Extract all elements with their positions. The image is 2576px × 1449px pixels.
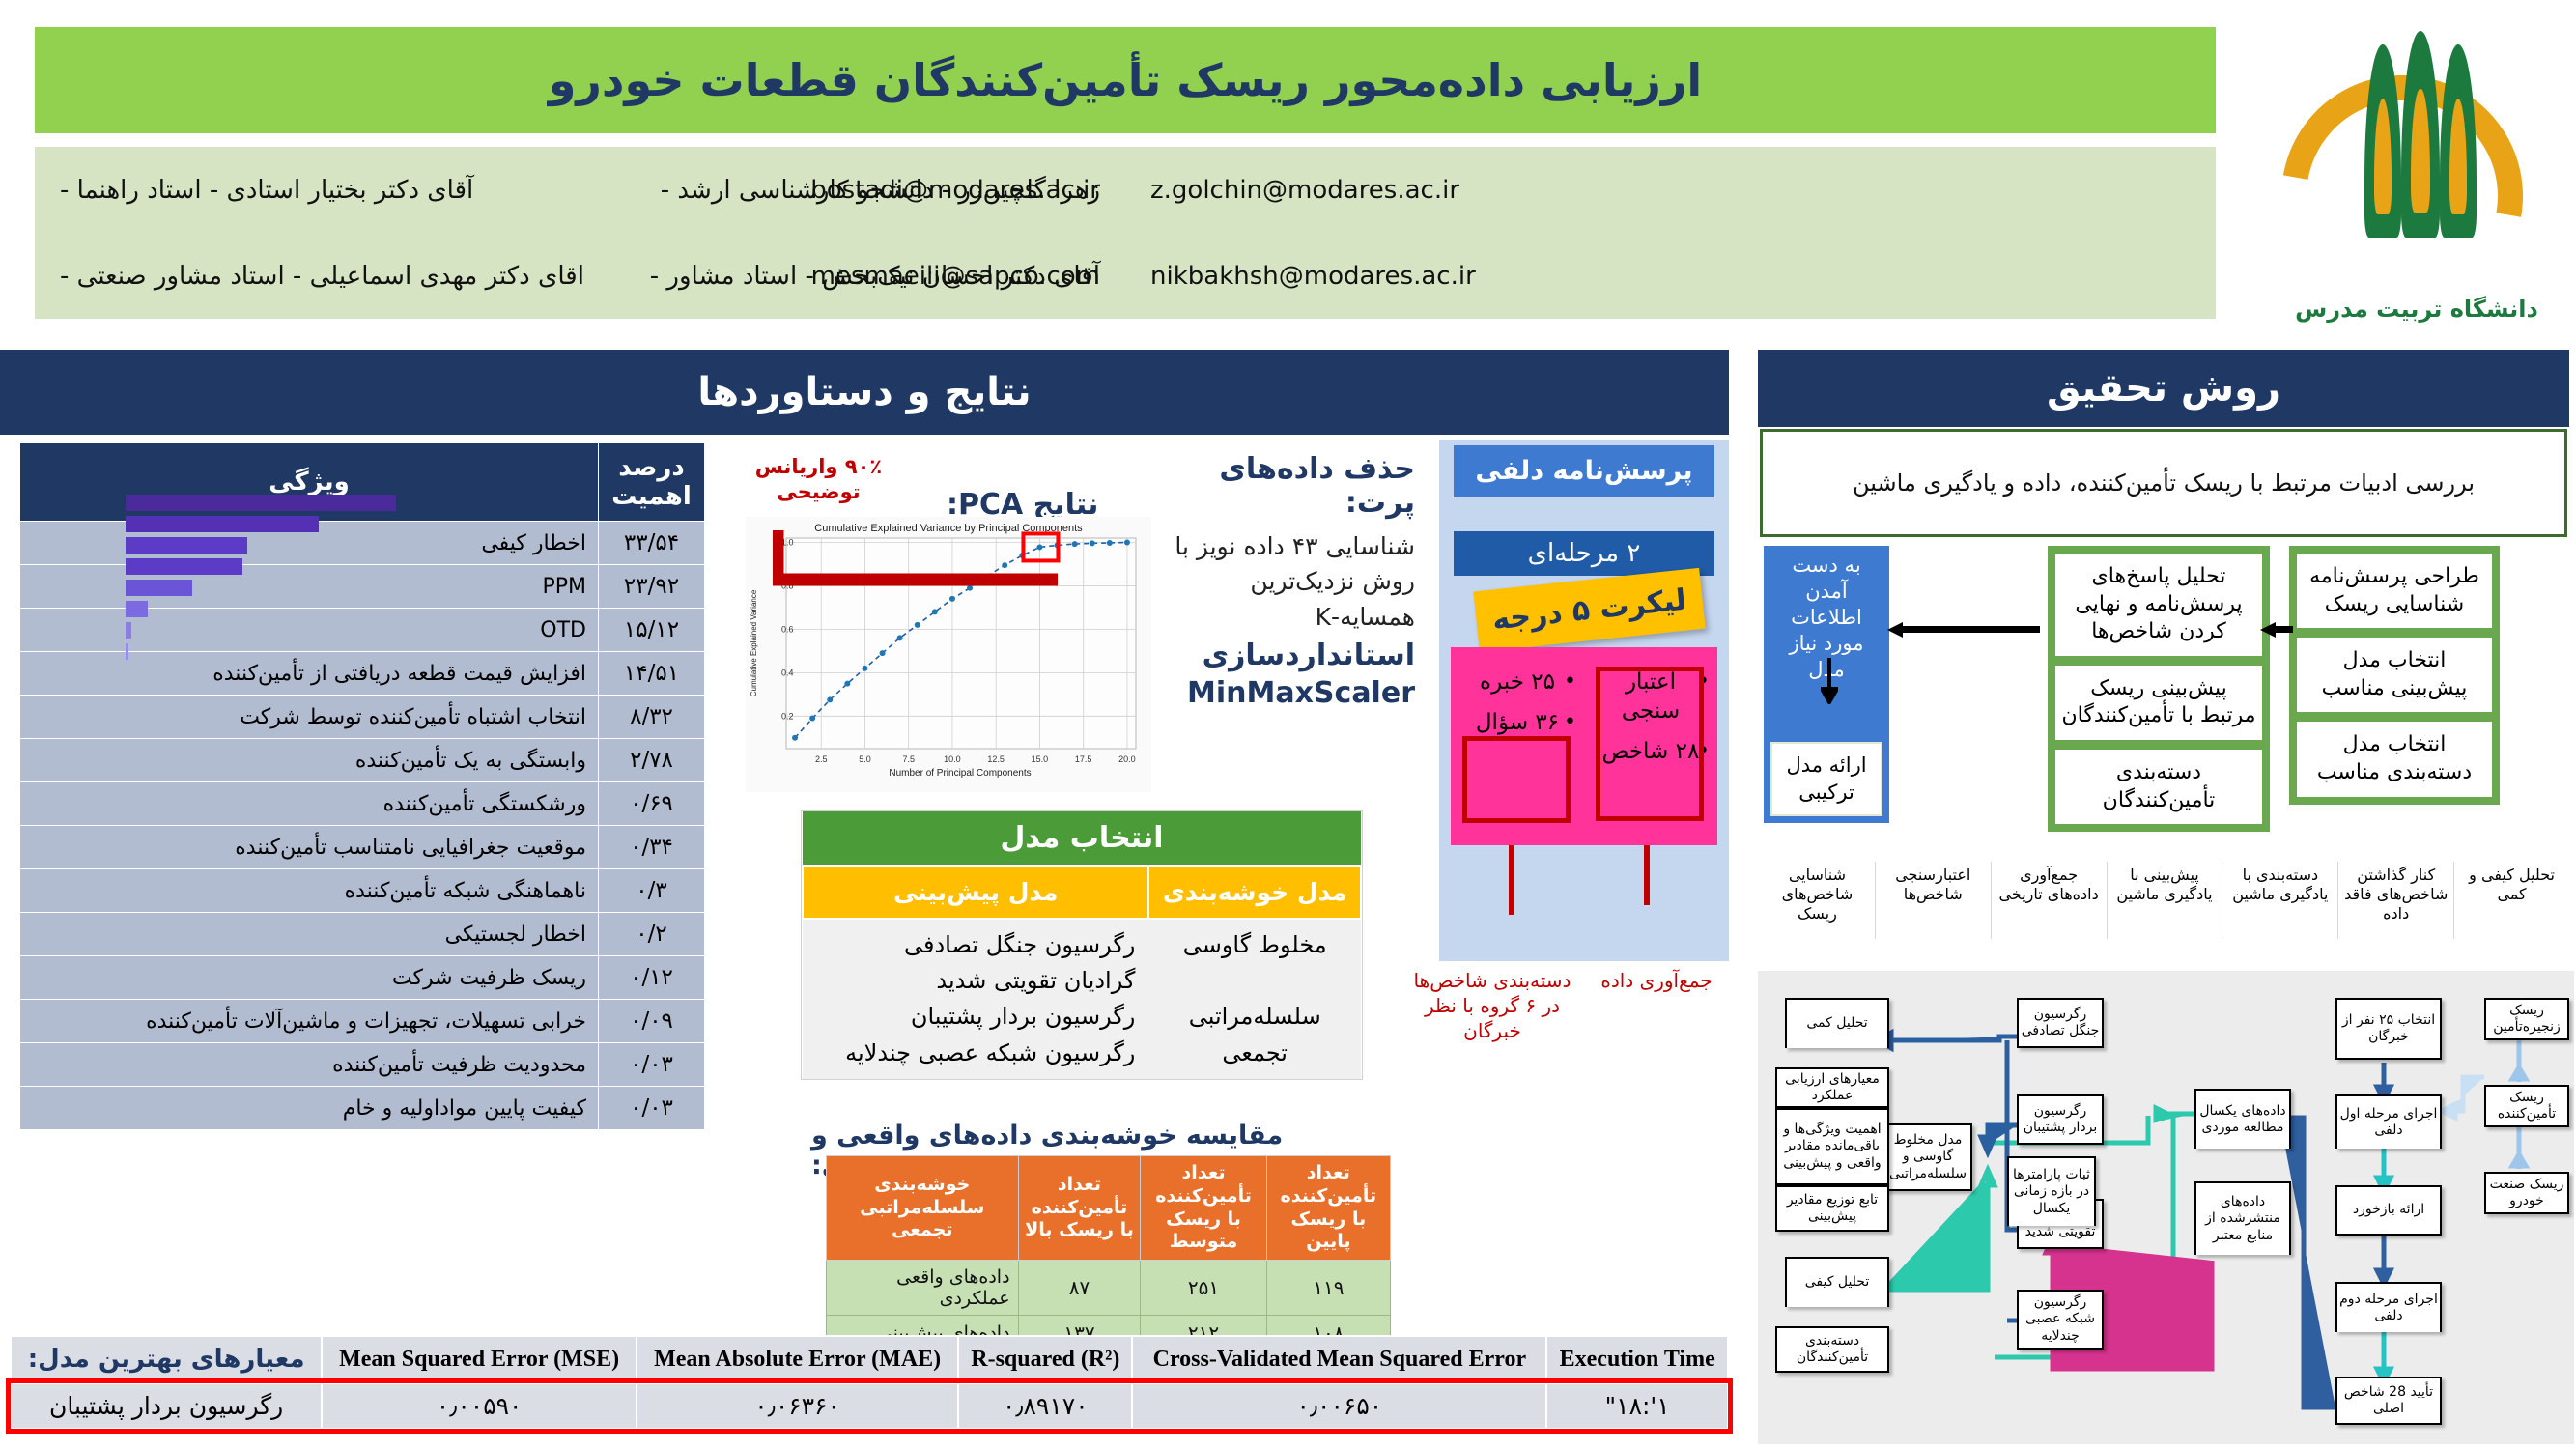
flow-node-delphi-1: اجرای مرحله اول دلفی — [2335, 1094, 2442, 1149]
feature-table-body: ۳۳/۵۴اخطار کیفی۲۳/۹۲PPM۱۵/۱۲OTD۱۴/۵۱افزا… — [20, 522, 705, 1130]
cell-importance-pct: ۱۴/۵۱ — [599, 652, 705, 696]
highlight-frame-indicators — [1596, 667, 1704, 821]
cell-importance-pct: ۰/۰۹ — [599, 1000, 705, 1043]
cell-feature-name: انتخاب اشتباه تأمین‌کننده توسط شرکت — [20, 696, 599, 739]
table-row: ۱۵/۱۲OTD — [20, 609, 705, 652]
cell-importance-pct: ۰/۲ — [599, 913, 705, 956]
metrics-value-2: ۰٫۸۹۱۷۰ — [958, 1383, 1132, 1429]
method-section-title: روش تحقیق — [2047, 366, 2280, 411]
cell-feature-name: موقعیت جغرافیایی نامتناسب تأمین‌کننده — [20, 826, 599, 869]
flow-node-perf-metrics: معیارهای ارزیابی عملکرد — [1775, 1067, 1889, 1108]
sample-item-1: ۲۵ خبره — [1460, 668, 1574, 697]
metrics-value-5: رگرسیون بردار پشتیبان — [11, 1383, 322, 1429]
method-step-classify-suppliers: دسته‌بندی تأمین‌کنندگان — [2055, 750, 2262, 824]
annotation-data-collection: جمع‌آوری داده — [1584, 968, 1729, 993]
metrics-col-header-3: Mean Absolute Error (MAE) — [637, 1336, 958, 1383]
flow-node-risk-supplier: ریسک تأمین‌کننده — [2484, 1085, 2569, 1127]
author-supervisor-name: آقای دکتر بختیار استادی - استاد راهنما - — [35, 147, 1125, 233]
col-header-0: خوشه‌بندی سلسله‌مراتبی تجمعی — [827, 1156, 1019, 1261]
chart-point — [915, 622, 920, 628]
metrics-value-1: ۰٫۰۰۶۵۰ — [1132, 1383, 1546, 1429]
flow-node-rf: رگرسیون جنگل تصادفی — [2017, 998, 2104, 1048]
col-header-2: تعداد تأمین‌کننده با ریسک متوسط — [1141, 1156, 1266, 1261]
flow-node-feat-imp: اهمیت ویژگی‌ها و باقی‌مانده مقادیر واقعی… — [1775, 1108, 1889, 1185]
cell-feature-name: اخطار لجستیکی — [20, 913, 599, 956]
table-header-row: تعداد تأمین‌کننده با ریسک پایینتعداد تأم… — [827, 1156, 1391, 1261]
method-step-3: پیش‌بینی با یادگیری ماشین — [2108, 862, 2223, 939]
method-step-4: جمع‌آوری داده‌های تاریخی — [1992, 862, 2108, 939]
metrics-col-header-4: Mean Squared Error (MSE) — [322, 1336, 637, 1383]
logo-leaf-center — [2401, 31, 2440, 238]
svg-text:12.5: 12.5 — [987, 754, 1005, 764]
svg-text:0.4: 0.4 — [781, 668, 794, 677]
chart-y-axis-label: Cumulative Explained Variance — [750, 589, 758, 696]
outlier-heading: حذف داده‌های پرت: — [1174, 452, 1415, 520]
flow-node-risk-chain: ریسک زنجیره‌تأمین — [2484, 998, 2569, 1040]
method-step-0: تحلیل کیفی و کمی — [2454, 862, 2569, 939]
metrics-value-3: ۰٫۰۶۳۶۰ — [637, 1383, 958, 1429]
outlier-body: شناسایی ۴۳ داده نویز با روش نزدیک‌ترین ه… — [1174, 529, 1415, 635]
svg-text:20.0: 20.0 — [1118, 754, 1136, 764]
col-header-3: تعداد تأمین‌کننده با ریسک پایین — [1266, 1156, 1390, 1261]
flow-node-select-25: انتخاب ۲۵ نفر از خبرگان — [2335, 998, 2442, 1060]
flow-node-confirm-28: تأیید 28 شاخص اصلی — [2335, 1377, 2442, 1425]
metrics-header-row: Execution TimeCross-Validated Mean Squar… — [11, 1336, 1728, 1383]
author-industry-name: اقای دکتر مهدی اسماعیلی - استاد مشاور صن… — [35, 233, 1125, 319]
cell-importance-pct: ۰/۳ — [599, 869, 705, 913]
cell-feature-name: ورشکستگی تأمین‌کننده — [20, 782, 599, 826]
table-row: ۰/۶۹ورشکستگی تأمین‌کننده — [20, 782, 705, 826]
cell-lbl: داده‌های واقعی عملکردی — [827, 1261, 1019, 1316]
svg-text:15.0: 15.0 — [1032, 754, 1049, 764]
table-row: ۰/۰۳کیفیت پایین مواداولیه و خام — [20, 1087, 705, 1130]
flow-node-delphi-2: اجرای مرحله دوم دلفی — [2335, 1282, 2442, 1332]
metrics-col-header-2: R-squared (R²) — [958, 1336, 1132, 1383]
method-outcome-model: ارائه مدل ترکیبی — [1770, 742, 1882, 816]
cell-feature-name: PPM — [20, 565, 599, 609]
flow-node-gmm-hier: مدل مخلوط گاوسی و سلسله‌مراتبی — [1883, 1123, 1972, 1191]
model-list-item: مخلوط گاوسی — [1162, 927, 1347, 963]
cell-importance-pct: ۱۵/۱۲ — [599, 609, 705, 652]
method-steps-strip: تحلیل کیفی و کمیکنار گذاشتن شاخص‌های فاق… — [1760, 862, 2569, 939]
table-row: ۰/۲اخطار لجستیکی — [20, 913, 705, 956]
best-model-metrics-table: Execution TimeCross-Validated Mean Squar… — [10, 1335, 1729, 1430]
outlier-removal-block: حذف داده‌های پرت: شناسایی ۴۳ داده نویز ب… — [1174, 452, 1415, 710]
literature-review-text: بررسی ادبیات مرتبط با ریسک تأمین‌کننده، … — [1853, 469, 2475, 497]
table-row: ۰/۰۳محدودیت ظرفیت تأمین‌کننده — [20, 1043, 705, 1087]
methodology-flow-diagram: ریسک زنجیره‌تأمینریسک تأمین‌کنندهریسک صن… — [1758, 971, 2574, 1444]
document-shape-tail — [1785, 1046, 1889, 1064]
document-shape-tail — [2007, 1224, 2096, 1241]
method-step-analyze-responses: تحلیل پاسخ‌های پرسش‌نامه و نهایی کردن شا… — [2055, 554, 2262, 656]
cell-feature-name: افزایش قیمت قطعه دریافتی از تأمین‌کننده — [20, 652, 599, 696]
table-row: ۱۴/۵۱افزایش قیمت قطعه دریافتی از تأمین‌ک… — [20, 652, 705, 696]
svg-text:17.5: 17.5 — [1075, 754, 1092, 764]
normalization-value: MinMaxScaler — [1174, 676, 1415, 710]
col-header-feature: ویژگی — [20, 443, 599, 522]
cell-importance-pct: ۰/۰۳ — [599, 1087, 705, 1130]
cell-importance-pct: ۳۳/۵۴ — [599, 522, 705, 565]
method-outcome-panel: به دست آمدن اطلاعات مورد نیاز مدل ارائه … — [1764, 546, 1889, 823]
chart-point — [897, 635, 903, 640]
chart-point — [844, 681, 850, 687]
questionnaire-sample-box: ۲۵ خبره ۳۶ سؤال — [1451, 647, 1584, 845]
normalization-label: استانداردسازی — [1174, 639, 1415, 672]
chart-x-axis-label: Number of Principal Components — [889, 768, 1031, 779]
flow-node-cluster-sup: دسته‌بندی تأمین‌کنندگان — [1775, 1326, 1889, 1373]
document-shape-tail — [2335, 1147, 2442, 1164]
col-header-clustering-model: مدل خوشه‌بندی — [1148, 866, 1361, 919]
cell-feature-name: وابستگی به یک تأمین‌کننده — [20, 739, 599, 782]
likert-scale-badge: لیکرت ۵ درجه — [1473, 568, 1705, 652]
method-column-design: طراحی پرسش‌نامه شناسایی ریسک انتخاب مدل … — [2289, 546, 2500, 805]
annotation-stem-left — [1509, 845, 1514, 915]
questionnaire-stages: ۲ مرحله‌ای — [1454, 531, 1714, 576]
svg-text:10.0: 10.0 — [944, 754, 961, 764]
page-title: ارزیابی داده‌محور ریسک تأمین‌کنندگان قطع… — [549, 56, 1702, 105]
table-row: ۰/۳ناهماهنگی شبکه تأمین‌کننده — [20, 869, 705, 913]
method-column-analysis: تحلیل پاسخ‌های پرسش‌نامه و نهایی کردن شا… — [2048, 546, 2270, 832]
flow-node-case-data: داده‌های یکسال مطالعه موردی — [2194, 1089, 2291, 1149]
method-step-select-prediction-model: انتخاب مدل پیش‌بینی مناسب — [2297, 638, 2492, 712]
method-arrow-a-to-b — [2268, 626, 2293, 633]
chart-point — [1090, 540, 1095, 546]
model-list-item: گرادیان تقویتی شدید — [816, 963, 1135, 999]
flow-node-mlp: رگرسیون شبکه عصبی چندلایه — [2017, 1290, 2104, 1350]
document-shape-tail — [2335, 1330, 2442, 1348]
cell-importance-pct: ۰/۳۴ — [599, 826, 705, 869]
author-email-2: nikbakhsh@modares.ac.ir — [1125, 262, 2216, 291]
chart-point — [1124, 539, 1130, 545]
cell-mid: ۲۵۱ — [1141, 1261, 1266, 1316]
method-step-select-clustering-model: انتخاب مدل دسته‌بندی مناسب — [2297, 722, 2492, 796]
logo-leaf-right — [2440, 44, 2477, 238]
feature-importance-table: درصد اهمیت ویژگی ۳۳/۵۴اخطار کیفی۲۳/۹۲PPM… — [19, 442, 705, 1130]
document-shape-tail — [1785, 1305, 1889, 1322]
results-section-header: نتایج و دستاوردها — [0, 350, 1729, 435]
method-section-header: روش تحقیق — [1758, 350, 2569, 427]
flow-node-stability: ثبات پارامترها در بازه زمانی یکسال — [2007, 1156, 2096, 1226]
model-list-item: رگرسیون شبکه عصبی چندلایه — [816, 1036, 1135, 1071]
svg-text:5.0: 5.0 — [859, 754, 871, 764]
model-list-item — [1162, 963, 1347, 999]
literature-review-box: بررسی ادبیات مرتبط با ریسک تأمین‌کننده، … — [1760, 429, 2567, 537]
table-row: ۰/۰۹خرابی تسهیلات، تجهیزات و ماشین‌آلات … — [20, 1000, 705, 1043]
cell-feature-name: ریسک ظرفیت شرکت — [20, 956, 599, 1000]
cell-feature-name: ناهماهنگی شبکه تأمین‌کننده — [20, 869, 599, 913]
cell-feature-name: کیفیت پایین مواداولیه و خام — [20, 1087, 599, 1130]
chart-point — [1107, 540, 1113, 546]
flow-node-quant: تحلیل کمی — [1785, 998, 1889, 1048]
highlight-frame-questions — [1462, 736, 1571, 823]
metrics-value-row: ۱':۱۸"۰٫۰۰۶۵۰۰٫۸۹۱۷۰۰٫۰۶۳۶۰۰٫۰۰۵۹۰رگرسیو… — [11, 1383, 1728, 1429]
poster-title-bar: ارزیابی داده‌محور ریسک تأمین‌کنندگان قطع… — [35, 27, 2216, 133]
metrics-value-0: ۱':۱۸" — [1546, 1383, 1728, 1429]
chart-point — [809, 716, 815, 722]
annotation-stem-right — [1644, 845, 1650, 905]
logo-leaf-left — [2364, 44, 2401, 238]
cell-importance-pct: ۰/۱۲ — [599, 956, 705, 1000]
author-email-1: z.golchin@modares.ac.ir — [1125, 176, 2216, 205]
table-row: ۱۱۹۲۵۱۸۷داده‌های واقعی عملکردی — [827, 1261, 1391, 1316]
cell-importance-pct: ۰/۰۳ — [599, 1043, 705, 1087]
chart-point — [880, 650, 886, 656]
annotation-indicator-grouping: دسته‌بندی شاخص‌ها در ۶ گروه با نظر خبرگا… — [1405, 968, 1579, 1043]
cell-feature-name: اخطار کیفی — [20, 522, 599, 565]
method-step-5: اعتبارسنجی شاخص‌ها — [1876, 862, 1992, 939]
outcome-down-arrow-icon — [1821, 658, 1838, 708]
prediction-model-list: رگرسیون جنگل تصادفیگرادیان تقویتی شدیدرگ… — [803, 919, 1148, 1079]
svg-text:7.5: 7.5 — [902, 754, 915, 764]
document-shape-tail — [2194, 1147, 2291, 1164]
flow-node-svr: رگرسیون بردار پشتیبان — [2017, 1094, 2104, 1145]
svg-text:0.2: 0.2 — [781, 711, 794, 721]
table-row: ۸/۳۲انتخاب اشتباه تأمین‌کننده توسط شرکت — [20, 696, 705, 739]
cluster-comparison-table: تعداد تأمین‌کننده با ریسک پایینتعداد تأم… — [826, 1155, 1391, 1351]
model-selection-table: انتخاب مدل مدل خوشه‌بندی مدل پیش‌بینی مخ… — [802, 811, 1362, 1079]
questionnaire-validation-box: اعتبار سنجی ۲۸ شاخص — [1584, 647, 1717, 845]
metrics-value-4: ۰٫۰۰۵۹۰ — [322, 1383, 637, 1429]
cell-importance-pct: ۰/۶۹ — [599, 782, 705, 826]
model-selection-title: انتخاب مدل — [803, 811, 1361, 866]
cell-high: ۸۷ — [1018, 1261, 1141, 1316]
chart-point — [827, 696, 833, 702]
flow-node-qual: تحلیل کیفی — [1785, 1257, 1889, 1307]
metrics-col-header-5: معیارهای بهترین مدل: — [11, 1336, 322, 1383]
table-row: ۳۳/۵۴اخطار کیفی — [20, 522, 705, 565]
flow-node-dist-func: تابع توزیع مقادیر پیش‌بینی — [1775, 1185, 1889, 1232]
flow-node-feedback: ارائه بازخورد — [2335, 1185, 2442, 1236]
svg-text:0.6: 0.6 — [781, 624, 794, 634]
method-arrow-b-to-outcome — [1895, 626, 2040, 633]
chart-point — [862, 666, 867, 671]
document-shape-tail — [2194, 1253, 2291, 1270]
model-list-item: رگرسیون بردار پشتیبان — [816, 999, 1135, 1035]
pca-variance-annotation: ۹۰٪ واریانس توضیحی — [734, 454, 903, 505]
method-step-predict-risk: پیش‌بینی ریسک مرتبط با تأمین‌کنندگان — [2055, 666, 2262, 740]
flow-node-risk-auto: ریسک صنعت خودرو — [2484, 1172, 2569, 1214]
authors-left-names: آقای دکتر بختیار استادی - استاد راهنما -… — [35, 147, 1125, 319]
chart-point — [1072, 541, 1078, 547]
table-row: ۰/۳۴موقعیت جغرافیایی نامتناسب تأمین‌کنند… — [20, 826, 705, 869]
poster-header: ارزیابی داده‌محور ریسک تأمین‌کنندگان قطع… — [0, 0, 2576, 340]
col-header-importance: درصد اهمیت — [599, 443, 705, 522]
flow-node-pub-data: داده‌های منتشرشده از منابع معتبر — [2194, 1181, 2291, 1255]
delphi-questionnaire-panel: پرسش‌نامه دلفی ۲ مرحله‌ای لیکرت ۵ درجه ا… — [1439, 440, 1729, 961]
method-step-2: دسته‌بندی با یادگیری ماشین — [2222, 862, 2338, 939]
pca-annotation-connector — [773, 526, 1062, 613]
table-row: ۲۳/۹۲PPM — [20, 565, 705, 609]
col-header-1: تعداد تأمین‌کننده با ریسک بالا — [1018, 1156, 1141, 1261]
metrics-col-header-0: Execution Time — [1546, 1336, 1728, 1383]
table-row: ۲/۷۸وابستگی به یک تأمین‌کننده — [20, 739, 705, 782]
cell-importance-pct: ۲۳/۹۲ — [599, 565, 705, 609]
col-header-prediction-model: مدل پیش‌بینی — [803, 866, 1148, 919]
method-step-design-questionnaire: طراحی پرسش‌نامه شناسایی ریسک — [2297, 554, 2492, 628]
table-header-row: درصد اهمیت ویژگی — [20, 443, 705, 522]
results-section-title: نتایج و دستاوردها — [697, 370, 1031, 414]
metrics-col-header-1: Cross-Validated Mean Squared Error — [1132, 1336, 1546, 1383]
chart-point — [792, 735, 798, 741]
model-list-item: سلسله‌مراتبی تجمعی — [1162, 999, 1347, 1070]
questionnaire-heading: پرسش‌نامه دلفی — [1454, 445, 1714, 497]
table-row: ۰/۱۲ریسک ظرفیت شرکت — [20, 956, 705, 1000]
method-step-6: شناسایی شاخص‌های ریسک — [1760, 862, 1876, 939]
cell-importance-pct: ۲/۷۸ — [599, 739, 705, 782]
sample-item-2: ۳۶ سؤال — [1460, 709, 1574, 738]
svg-text:2.5: 2.5 — [815, 754, 828, 764]
logo-caption: دانشگاه تربیت مدرس — [2272, 296, 2562, 323]
university-logo: دانشگاه تربیت مدرس — [2272, 17, 2562, 328]
cell-feature-name: خرابی تسهیلات، تجهیزات و ماشین‌آلات تأمی… — [20, 1000, 599, 1043]
cell-feature-name: محدودیت ظرفیت تأمین‌کننده — [20, 1043, 599, 1087]
model-list-item: رگرسیون جنگل تصادفی — [816, 927, 1135, 963]
cell-low: ۱۱۹ — [1266, 1261, 1390, 1316]
clustering-model-list: مخلوط گاوسی سلسله‌مراتبی تجمعی — [1148, 919, 1361, 1079]
method-step-1: کنار گذاشتن شاخص‌های فاقد داده — [2338, 862, 2454, 939]
cell-importance-pct: ۸/۳۲ — [599, 696, 705, 739]
cell-feature-name: OTD — [20, 609, 599, 652]
